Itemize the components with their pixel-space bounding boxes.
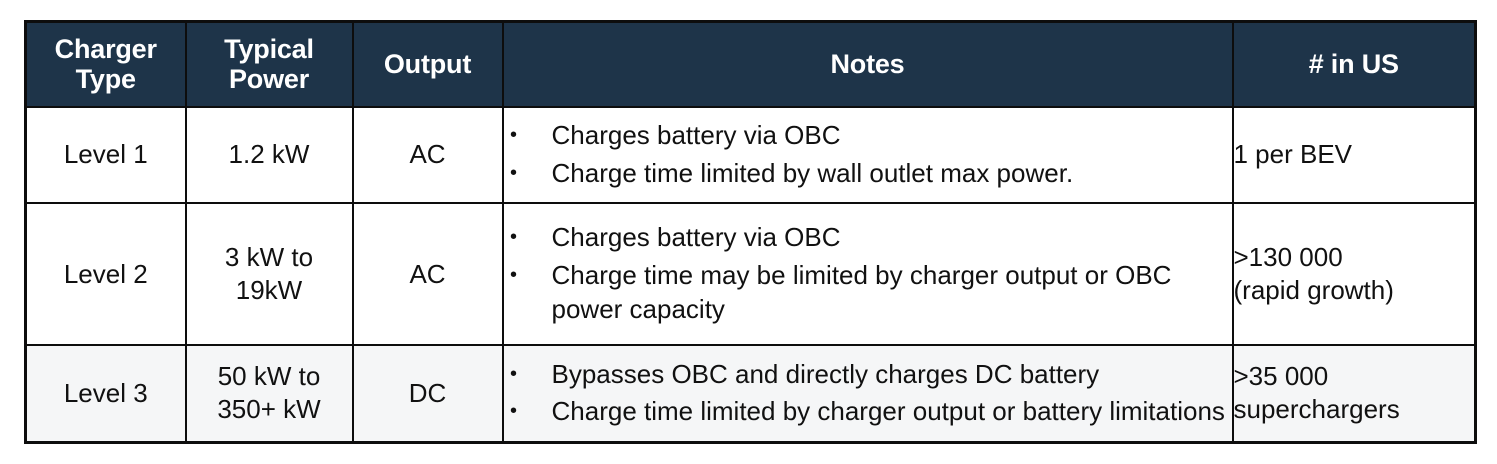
- column-header-count-in-us: # in US: [1233, 22, 1476, 107]
- cell-typical-power: 3 kW to 19kW: [186, 203, 353, 344]
- list-item-label: Bypasses OBC and directly charges DC bat…: [552, 359, 1100, 389]
- notes-list: • Charges battery via OBC • Charge time …: [504, 119, 1232, 191]
- cell-count-in-us: 1 per BEV: [1233, 107, 1476, 204]
- cell-notes: • Charges battery via OBC • Charge time …: [503, 107, 1233, 204]
- cell-count-in-us: >35 000 superchargers: [1233, 345, 1476, 443]
- cell-output: AC: [353, 107, 503, 204]
- list-item-label: Charges battery via OBC: [552, 222, 841, 252]
- table-header-row: Charger Type Typical Power Output Notes …: [26, 22, 1476, 107]
- column-header-typical-power: Typical Power: [186, 22, 353, 107]
- cell-output: AC: [353, 203, 503, 344]
- column-header-output: Output: [353, 22, 503, 107]
- list-item-label: Charge time may be limited by charger ou…: [552, 260, 1172, 324]
- list-item: • Charge time limited by wall outlet max…: [504, 157, 1232, 191]
- column-header-notes: Notes: [503, 22, 1233, 107]
- table-row: Level 3 50 kW to 350+ kW DC • Bypasses O…: [26, 345, 1476, 443]
- list-item: • Charges battery via OBC: [504, 119, 1232, 153]
- cell-typical-power: 1.2 kW: [186, 107, 353, 204]
- list-item: • Charge time limited by charger output …: [504, 395, 1232, 429]
- table-body: Level 1 1.2 kW AC • Charges battery via …: [26, 107, 1476, 443]
- cell-output: DC: [353, 345, 503, 443]
- bullet-icon: •: [507, 119, 521, 151]
- table-header: Charger Type Typical Power Output Notes …: [26, 22, 1476, 107]
- list-item: • Charges battery via OBC: [504, 221, 1232, 255]
- list-item-label: Charge time limited by wall outlet max p…: [552, 158, 1074, 188]
- charger-comparison-table: Charger Type Typical Power Output Notes …: [24, 20, 1477, 444]
- cell-charger-type: Level 3: [26, 345, 186, 443]
- cell-charger-type: Level 1: [26, 107, 186, 204]
- cell-notes: • Bypasses OBC and directly charges DC b…: [503, 345, 1233, 443]
- list-item: • Charge time may be limited by charger …: [504, 259, 1232, 327]
- bullet-icon: •: [507, 259, 521, 291]
- cell-charger-type: Level 2: [26, 203, 186, 344]
- table-row: Level 1 1.2 kW AC • Charges battery via …: [26, 107, 1476, 204]
- notes-list: • Bypasses OBC and directly charges DC b…: [504, 358, 1232, 430]
- cell-notes: • Charges battery via OBC • Charge time …: [503, 203, 1233, 344]
- cell-count-in-us: >130 000 (rapid growth): [1233, 203, 1476, 344]
- list-item-label: Charge time limited by charger output or…: [552, 396, 1225, 426]
- table-row: Level 2 3 kW to 19kW AC • Charges batter…: [26, 203, 1476, 344]
- bullet-icon: •: [507, 358, 521, 390]
- notes-list: • Charges battery via OBC • Charge time …: [504, 221, 1232, 326]
- list-item-label: Charges battery via OBC: [552, 120, 841, 150]
- charger-comparison-table-container: Charger Type Typical Power Output Notes …: [24, 20, 1474, 444]
- bullet-icon: •: [507, 395, 521, 427]
- bullet-icon: •: [507, 157, 521, 189]
- bullet-icon: •: [507, 221, 521, 253]
- cell-typical-power: 50 kW to 350+ kW: [186, 345, 353, 443]
- column-header-charger-type: Charger Type: [26, 22, 186, 107]
- list-item: • Bypasses OBC and directly charges DC b…: [504, 358, 1232, 392]
